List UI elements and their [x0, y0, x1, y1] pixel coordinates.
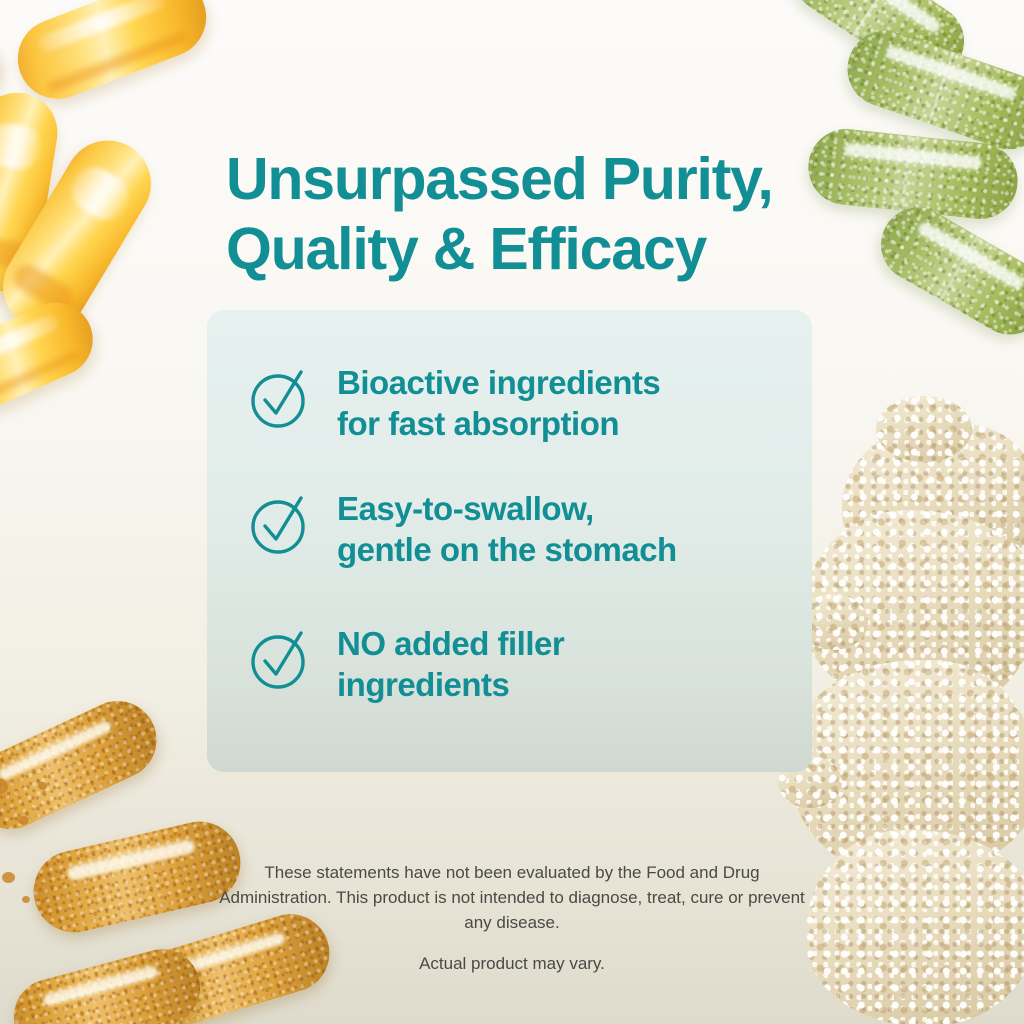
fda-disclaimer: These statements have not been evaluated… — [212, 860, 812, 935]
headline-line-2: Quality & Efficacy — [226, 214, 826, 284]
feature-panel: Bioactive ingredients for fast absorptio… — [207, 310, 812, 772]
promo-graphic: Unsurpassed Purity, Quality & Efficacy B… — [0, 0, 1024, 1024]
softgel-capsule — [0, 125, 167, 346]
softgel-capsule — [0, 291, 105, 420]
green-capsule — [780, 0, 979, 93]
green-capsule — [837, 21, 1024, 160]
green-capsule — [868, 194, 1024, 348]
softgel-capsule — [6, 0, 218, 110]
green-capsule — [805, 125, 1022, 223]
cream-protein-powder-pile-photo — [784, 418, 1024, 1018]
check-circle-icon — [249, 629, 311, 691]
check-circle-icon — [249, 494, 311, 556]
feature-item: NO added filler ingredients — [249, 623, 564, 705]
feature-item: Easy-to-swallow, gentle on the stomach — [249, 488, 677, 570]
feature-label: Easy-to-swallow, gentle on the stomach — [337, 488, 677, 570]
product-variation-note: Actual product may vary. — [212, 951, 812, 976]
feature-label: NO added filler ingredients — [337, 623, 564, 705]
feature-label: Bioactive ingredients for fast absorptio… — [337, 362, 660, 444]
page-title: Unsurpassed Purity, Quality & Efficacy — [226, 144, 826, 284]
feature-item: Bioactive ingredients for fast absorptio… — [249, 362, 660, 444]
softgel-capsule — [0, 87, 63, 297]
turmeric-capsule — [5, 941, 208, 1024]
check-circle-icon — [249, 368, 311, 430]
softgel-capsule — [0, 23, 12, 117]
turmeric-capsule — [0, 688, 169, 842]
headline-line-1: Unsurpassed Purity, — [226, 144, 826, 214]
